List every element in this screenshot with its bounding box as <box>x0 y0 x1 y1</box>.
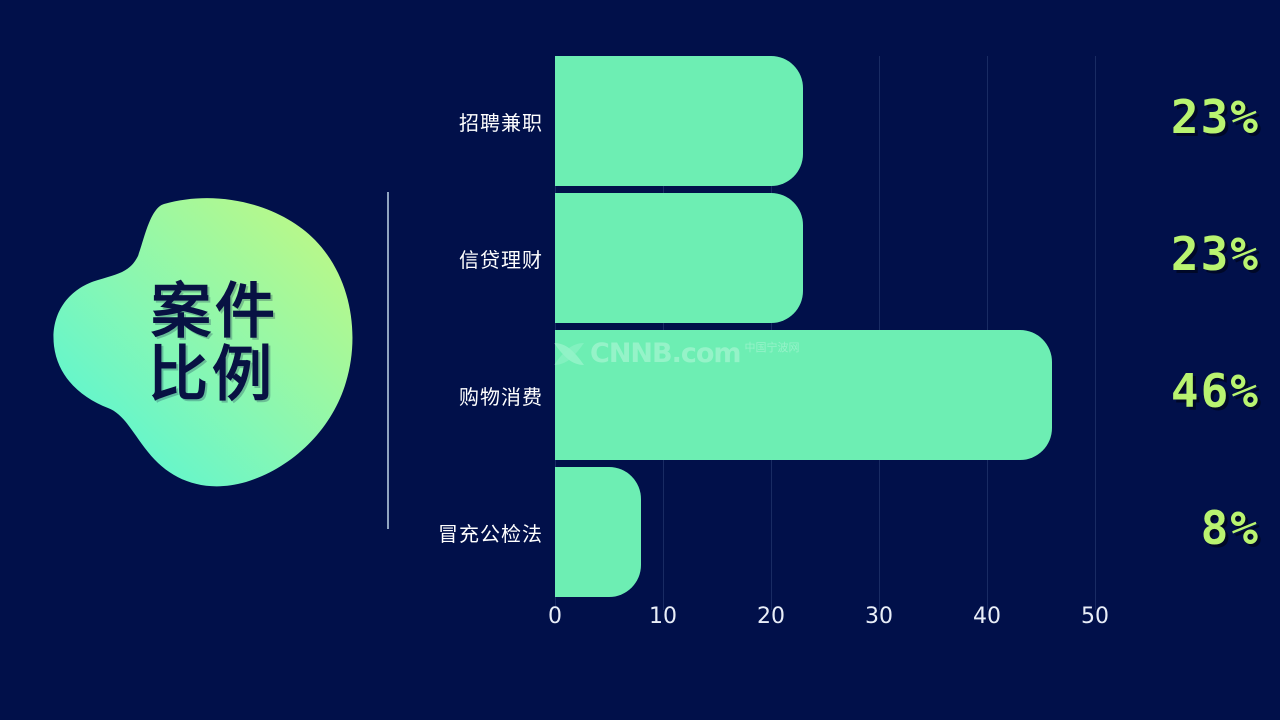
x-axis-tick-label: 10 <box>623 604 703 629</box>
category-label: 信贷理财 <box>343 244 543 273</box>
category-label: 招聘兼职 <box>343 107 543 136</box>
category-label: 购物消费 <box>343 381 543 410</box>
infographic-chart-slide: 案件 比例 01020304050招聘兼职23%信贷理财23%购物消费46%冒充… <box>0 0 1280 720</box>
value-label: 23% <box>1060 227 1260 281</box>
value-label: 8% <box>1060 501 1260 555</box>
x-axis-tick-label: 50 <box>1055 604 1135 629</box>
value-label: 23% <box>1060 90 1260 144</box>
value-label: 46% <box>1060 364 1260 418</box>
x-axis-tick-label: 0 <box>515 604 595 629</box>
category-label: 冒充公检法 <box>343 518 543 547</box>
x-axis-tick-label: 20 <box>731 604 811 629</box>
horizontal-bar-chart: 01020304050招聘兼职23%信贷理财23%购物消费46%冒充公检法8% <box>0 0 1280 720</box>
category-axis-line <box>387 192 389 529</box>
bar[interactable] <box>555 193 803 323</box>
bar[interactable] <box>555 330 1052 460</box>
bar[interactable] <box>555 56 803 186</box>
x-axis-tick-label: 30 <box>839 604 919 629</box>
bar[interactable] <box>555 467 641 597</box>
x-axis-tick-label: 40 <box>947 604 1027 629</box>
plot-area <box>555 56 1095 602</box>
